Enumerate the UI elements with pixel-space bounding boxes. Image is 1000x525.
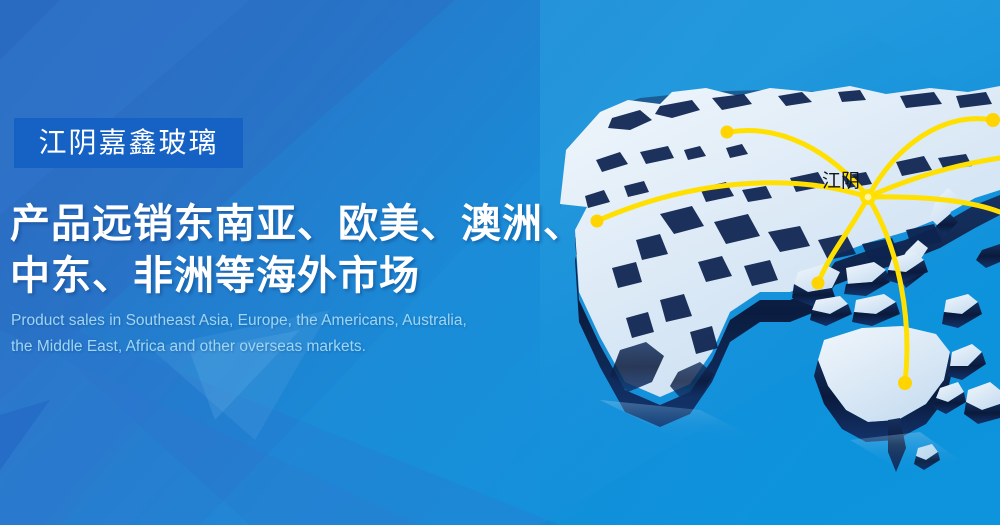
overseas-markets-banner: 江阴嘉鑫玻璃 产品远销东南亚、欧美、澳洲、 中东、非洲等海外市场 Product…: [0, 0, 1000, 525]
subtitle-block: Product sales in Southeast Asia, Europe,…: [11, 308, 581, 360]
brand-badge-label: 江阴嘉鑫玻璃: [38, 129, 218, 157]
headline-block: 产品远销东南亚、欧美、澳洲、 中东、非洲等海外市场: [10, 198, 610, 302]
subtitle-line-1: Product sales in Southeast Asia, Europe,…: [11, 308, 581, 334]
headline-line-1: 产品远销东南亚、欧美、澳洲、: [10, 198, 610, 250]
brand-badge: 江阴嘉鑫玻璃: [14, 118, 243, 168]
map-hub-label: 江阴: [822, 166, 860, 193]
subtitle-line-2: the Middle East, Africa and other overse…: [11, 334, 581, 360]
headline-line-2: 中东、非洲等海外市场: [10, 250, 610, 302]
